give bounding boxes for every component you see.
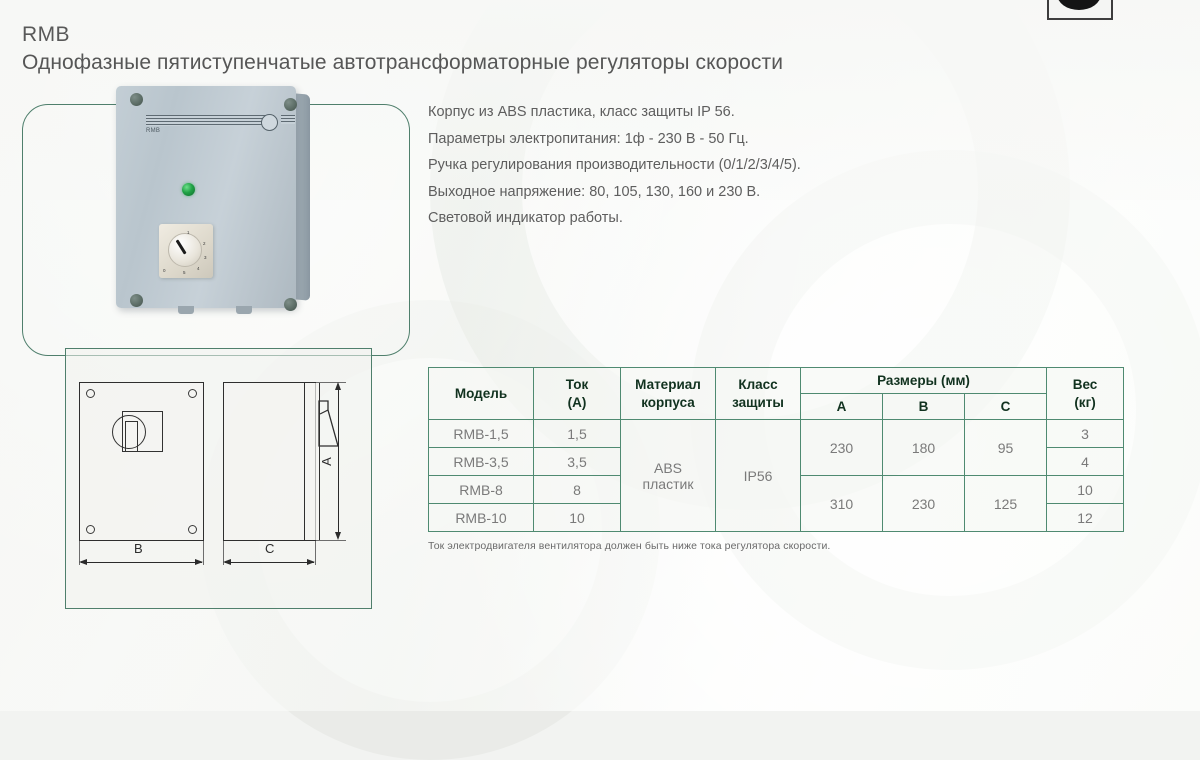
dim-label-b: B xyxy=(134,541,143,556)
device-logo-icon xyxy=(261,114,278,131)
cell-current-2: 8 xyxy=(534,476,621,504)
knob-position-2: 2 xyxy=(203,241,206,246)
table-head: Модель Ток (А) Материал корпуса Класс за… xyxy=(429,368,1124,420)
page-title-subtitle: Однофазные пятиступенчатые автотрансформ… xyxy=(22,48,783,78)
dim-ext-a-bottom xyxy=(316,540,346,541)
device-rotary-switch-plate: 1 2 3 4 5 0 xyxy=(159,224,213,278)
specification-table: Модель Ток (А) Материал корпуса Класс за… xyxy=(428,367,1124,532)
cell-dim-a-1: 310 xyxy=(801,476,883,532)
cell-material: ABS пластик xyxy=(621,420,716,532)
drawing-mounting-hole-top-right xyxy=(188,389,197,398)
table-footnote: Ток электродвигателя вентилятора должен … xyxy=(428,540,830,552)
drawing-front-view xyxy=(79,382,204,541)
device-ventilation-slots xyxy=(146,115,274,126)
th-dim-b: B xyxy=(883,394,965,420)
drawing-mounting-hole-bottom-left xyxy=(86,525,95,534)
th-material-line2: корпуса xyxy=(621,394,715,412)
knob-position-3: 3 xyxy=(204,255,207,260)
cell-dim-a-0: 230 xyxy=(801,420,883,476)
device-screw-top-right xyxy=(284,98,297,111)
th-current-line2: (А) xyxy=(534,394,620,412)
drawing-side-view xyxy=(223,382,316,541)
knob-position-1: 1 xyxy=(187,230,190,235)
dim-ext-b-right xyxy=(203,541,204,565)
spec-line-power: Параметры электропитания: 1ф - 230 В - 5… xyxy=(428,126,801,153)
cell-dim-b-1: 230 xyxy=(883,476,965,532)
dim-line-a xyxy=(338,385,339,537)
dim-arrow-c-right xyxy=(307,559,315,565)
spec-line-housing: Корпус из ABS пластика, класс защиты IP … xyxy=(428,99,801,126)
device-screw-bottom-right xyxy=(284,298,297,311)
th-protection-line1: Класс xyxy=(716,376,800,394)
drawing-switch-slot xyxy=(125,421,138,452)
page-title-model: RMB xyxy=(22,22,783,48)
th-weight-line2: (кг) xyxy=(1047,394,1123,412)
th-protection-line2: защиты xyxy=(716,394,800,412)
specification-list: Корпус из ABS пластика, класс защиты IP … xyxy=(428,99,801,232)
company-logo-mark xyxy=(1057,0,1101,10)
cell-weight-1: 4 xyxy=(1047,448,1124,476)
cell-protection: IP56 xyxy=(716,420,801,532)
spec-line-indicator: Световой индикатор работы. xyxy=(428,205,801,232)
cell-current-3: 10 xyxy=(534,504,621,532)
device-power-led xyxy=(182,183,195,196)
th-protection: Класс защиты xyxy=(716,368,801,420)
spec-line-knob: Ручка регулирования производительности (… xyxy=(428,152,801,179)
drawing-mounting-hole-top-left xyxy=(86,389,95,398)
device-screw-bottom-left xyxy=(130,294,143,307)
th-dimensions-group: Размеры (мм) xyxy=(801,368,1047,394)
cell-dim-b-0: 180 xyxy=(883,420,965,476)
device-brand-label: RMB xyxy=(146,128,160,134)
table-row: RMB-1,5 1,5 ABS пластик IP56 230 180 95 … xyxy=(429,420,1124,448)
cell-model-1: RMB-3,5 xyxy=(429,448,534,476)
cell-model-3: RMB-10 xyxy=(429,504,534,532)
dim-arrow-b-left xyxy=(79,559,87,565)
cell-material-line2: пластик xyxy=(621,476,715,492)
device-cable-gland-right xyxy=(236,306,252,314)
product-photo-rmb-controller: RMB 1 2 3 4 5 0 xyxy=(108,82,318,314)
th-dim-a: A xyxy=(801,394,883,420)
th-weight-line1: Вес xyxy=(1047,376,1123,394)
cell-weight-2: 10 xyxy=(1047,476,1124,504)
dim-arrow-b-right xyxy=(195,559,203,565)
dim-label-c: C xyxy=(265,541,274,556)
company-logo-badge xyxy=(1047,0,1113,20)
dim-arrow-a-top xyxy=(335,382,341,390)
th-current: Ток (А) xyxy=(534,368,621,420)
dim-arrow-c-left xyxy=(223,559,231,565)
dim-label-a: A xyxy=(319,457,334,466)
dim-line-c xyxy=(225,562,314,563)
dim-ext-c-right xyxy=(315,541,316,565)
th-weight: Вес (кг) xyxy=(1047,368,1124,420)
th-material-line1: Материал xyxy=(621,376,715,394)
th-dim-c: C xyxy=(965,394,1047,420)
table-header-row-1: Модель Ток (А) Материал корпуса Класс за… xyxy=(429,368,1124,394)
knob-position-4: 4 xyxy=(197,266,200,271)
drawing-side-lid-line xyxy=(304,383,305,540)
page-header: RMB Однофазные пятиступенчатые автотранс… xyxy=(22,22,783,78)
device-screw-top-left xyxy=(130,93,143,106)
cell-dim-c-1: 125 xyxy=(965,476,1047,532)
cell-current-1: 3,5 xyxy=(534,448,621,476)
dim-line-b xyxy=(81,562,202,563)
cell-model-2: RMB-8 xyxy=(429,476,534,504)
th-material: Материал корпуса xyxy=(621,368,716,420)
cell-dim-c-0: 95 xyxy=(965,420,1047,476)
drawing-mounting-hole-bottom-right xyxy=(188,525,197,534)
table-body: RMB-1,5 1,5 ABS пластик IP56 230 180 95 … xyxy=(429,420,1124,532)
knob-position-0: 0 xyxy=(163,268,166,273)
device-front-panel: RMB 1 2 3 4 5 0 xyxy=(116,86,296,308)
device-ventilation-slots-secondary xyxy=(281,115,295,124)
cell-model-0: RMB-1,5 xyxy=(429,420,534,448)
spec-line-voltage: Выходное напряжение: 80, 105, 130, 160 и… xyxy=(428,179,801,206)
knob-position-5: 5 xyxy=(183,270,186,275)
th-current-line1: Ток xyxy=(534,376,620,394)
device-cable-gland-left xyxy=(178,306,194,314)
technical-dimension-drawing: B C A xyxy=(65,348,372,609)
cell-material-line1: ABS xyxy=(621,460,715,476)
cell-weight-0: 3 xyxy=(1047,420,1124,448)
dim-arrow-a-bottom xyxy=(335,532,341,540)
dim-ext-a-top xyxy=(316,382,346,383)
cell-current-0: 1,5 xyxy=(534,420,621,448)
th-model: Модель xyxy=(429,368,534,420)
cell-weight-3: 12 xyxy=(1047,504,1124,532)
